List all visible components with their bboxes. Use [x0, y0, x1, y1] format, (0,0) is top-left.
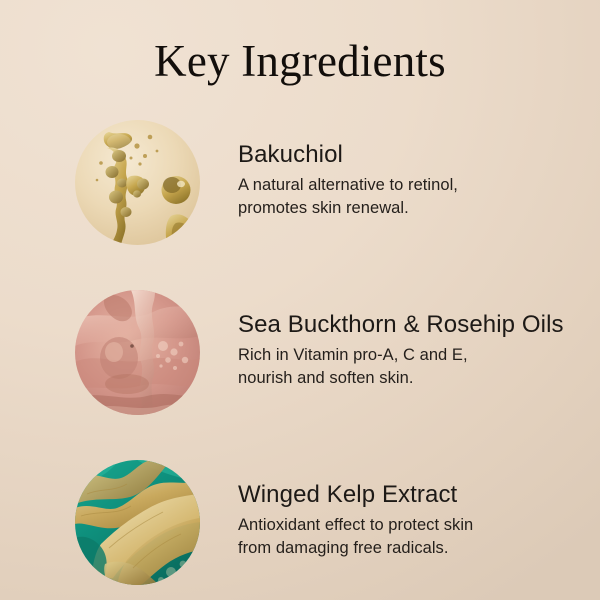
ingredient-name: Winged Kelp Extract [238, 480, 593, 510]
ingredient-list: Bakuchiol A natural alternative to retin… [0, 120, 600, 600]
ingredient-text-bakuchiol: Bakuchiol A natural alternative to retin… [238, 140, 593, 220]
ingredient-row-winged-kelp-extract: Winged Kelp Extract Antioxidant effect t… [0, 460, 600, 600]
ingredient-description-line: Rich in Vitamin pro-A, C and E, [238, 344, 593, 367]
ingredient-description: Rich in Vitamin pro-A, C and E, nourish … [238, 344, 593, 390]
ingredient-description: Antioxidant effect to protect skin from … [238, 514, 593, 560]
ingredient-description-line: from damaging free radicals. [238, 537, 593, 560]
ingredient-row-bakuchiol: Bakuchiol A natural alternative to retin… [0, 120, 600, 290]
key-ingredients-panel: Key Ingredients [0, 0, 600, 600]
ingredient-description-line: promotes skin renewal. [238, 197, 593, 220]
ingredient-description-line: nourish and soften skin. [238, 367, 593, 390]
page-title: Key Ingredients [0, 32, 600, 90]
rosehip-oil-swirl-image [75, 290, 200, 415]
ingredient-description-line: A natural alternative to retinol, [238, 174, 593, 197]
ingredient-row-sea-buckthorn-rosehip-oils: Sea Buckthorn & Rosehip Oils Rich in Vit… [0, 290, 600, 460]
bakuchiol-oil-droplets-image [75, 120, 200, 245]
ingredient-description: A natural alternative to retinol, promot… [238, 174, 593, 220]
ingredient-name: Bakuchiol [238, 140, 593, 170]
winged-kelp-underwater-image [75, 460, 200, 585]
ingredient-name: Sea Buckthorn & Rosehip Oils [238, 310, 593, 340]
ingredient-text-winged-kelp-extract: Winged Kelp Extract Antioxidant effect t… [238, 480, 593, 560]
ingredient-text-sea-buckthorn-rosehip-oils: Sea Buckthorn & Rosehip Oils Rich in Vit… [238, 310, 593, 390]
ingredient-description-line: Antioxidant effect to protect skin [238, 514, 593, 537]
